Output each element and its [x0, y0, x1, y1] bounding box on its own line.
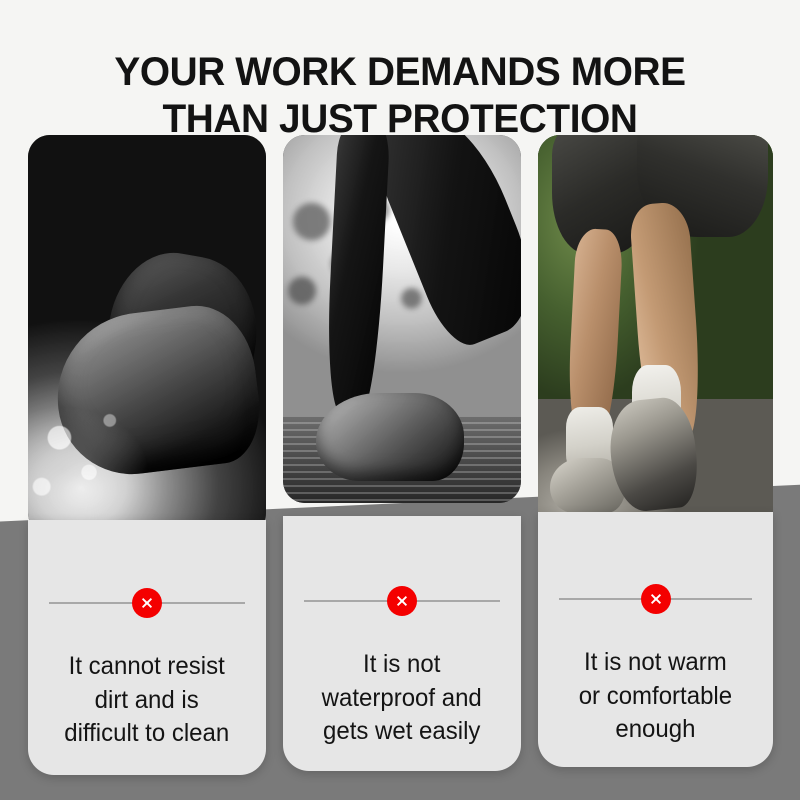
problem-card-1: It cannot resist dirt and is difficult t…: [28, 520, 266, 775]
card-divider-1: [28, 588, 266, 618]
problem-card-1-text: It cannot resist dirt and is difficult t…: [46, 650, 247, 751]
circle-x-icon: [387, 586, 417, 616]
benefit-card-group: It cannot resist dirt and is difficult t…: [0, 0, 800, 800]
card-divider-3: [538, 584, 773, 614]
problem-card-3: It is not warm or comfortable enough: [538, 512, 773, 767]
promo-stage: YOUR WORK DEMANDS MORE THAN JUST PROTECT…: [0, 0, 800, 800]
circle-x-icon: [641, 584, 671, 614]
card-divider-2: [283, 586, 521, 616]
problem-card-2: It is not waterproof and gets wet easily: [283, 516, 521, 771]
problem-card-2-text: It is not waterproof and gets wet easily: [301, 648, 502, 749]
problem-card-3-text: It is not warm or comfortable enough: [556, 646, 755, 747]
circle-x-icon: [132, 588, 162, 618]
